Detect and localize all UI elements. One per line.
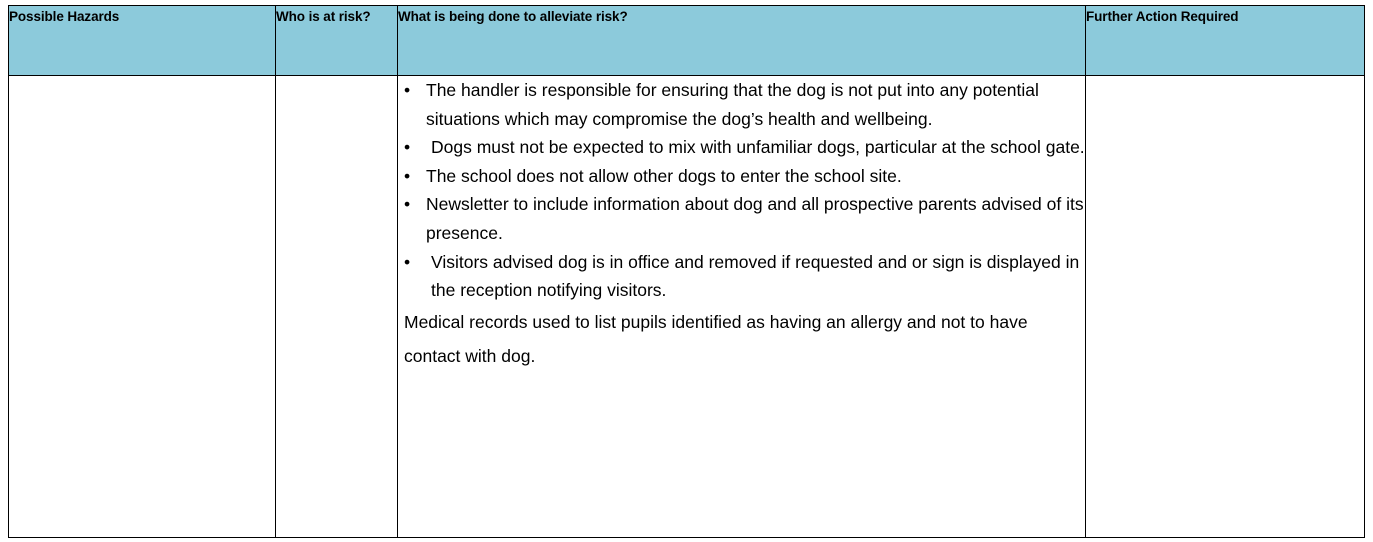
table-header-row: Possible Hazards Who is at risk? What is… xyxy=(9,6,1365,76)
list-item-text: The school does not allow other dogs to … xyxy=(426,166,902,186)
cell-who-is-at-risk xyxy=(276,76,398,538)
bullet-icon: • xyxy=(404,76,410,105)
document-page: Possible Hazards Who is at risk? What is… xyxy=(0,0,1373,542)
table-row: • The handler is responsible for ensurin… xyxy=(9,76,1365,538)
table-body: • The handler is responsible for ensurin… xyxy=(9,76,1365,538)
list-item: • Visitors advised dog is in office and … xyxy=(404,248,1085,305)
list-item-text: Visitors advised dog is in office and re… xyxy=(431,252,1079,301)
column-header-what-is-being-done: What is being done to alleviate risk? xyxy=(398,6,1086,76)
column-header-further-action-required: Further Action Required xyxy=(1086,6,1365,76)
table-header: Possible Hazards Who is at risk? What is… xyxy=(9,6,1365,76)
control-measures-list: • The handler is responsible for ensurin… xyxy=(398,76,1085,305)
bullet-icon: • xyxy=(404,190,410,219)
column-header-further-action-required-label: Further Action Required xyxy=(1086,6,1364,27)
bullet-icon: • xyxy=(404,133,410,162)
list-item-text: The handler is responsible for ensuring … xyxy=(426,80,1039,129)
column-header-who-is-at-risk: Who is at risk? xyxy=(276,6,398,76)
column-header-what-is-being-done-label: What is being done to alleviate risk? xyxy=(398,6,1085,27)
column-header-possible-hazards-label: Possible Hazards xyxy=(9,6,275,27)
list-item-text: Dogs must not be expected to mix with un… xyxy=(431,137,1085,157)
list-item: • Dogs must not be expected to mix with … xyxy=(404,133,1085,162)
list-item: • Newsletter to include information abou… xyxy=(404,190,1085,247)
cell-possible-hazards xyxy=(9,76,276,538)
column-header-who-is-at-risk-label: Who is at risk? xyxy=(276,6,397,27)
closing-paragraph: Medical records used to list pupils iden… xyxy=(404,305,1085,373)
bullet-icon: • xyxy=(404,162,410,191)
cell-what-is-being-done: • The handler is responsible for ensurin… xyxy=(398,76,1086,538)
bullet-icon: • xyxy=(404,248,410,277)
list-item: • The handler is responsible for ensurin… xyxy=(404,76,1085,133)
list-item-text: Newsletter to include information about … xyxy=(426,194,1084,243)
cell-further-action-required xyxy=(1086,76,1365,538)
list-item: • The school does not allow other dogs t… xyxy=(404,162,1085,191)
column-header-possible-hazards: Possible Hazards xyxy=(9,6,276,76)
risk-assessment-table: Possible Hazards Who is at risk? What is… xyxy=(8,5,1365,538)
